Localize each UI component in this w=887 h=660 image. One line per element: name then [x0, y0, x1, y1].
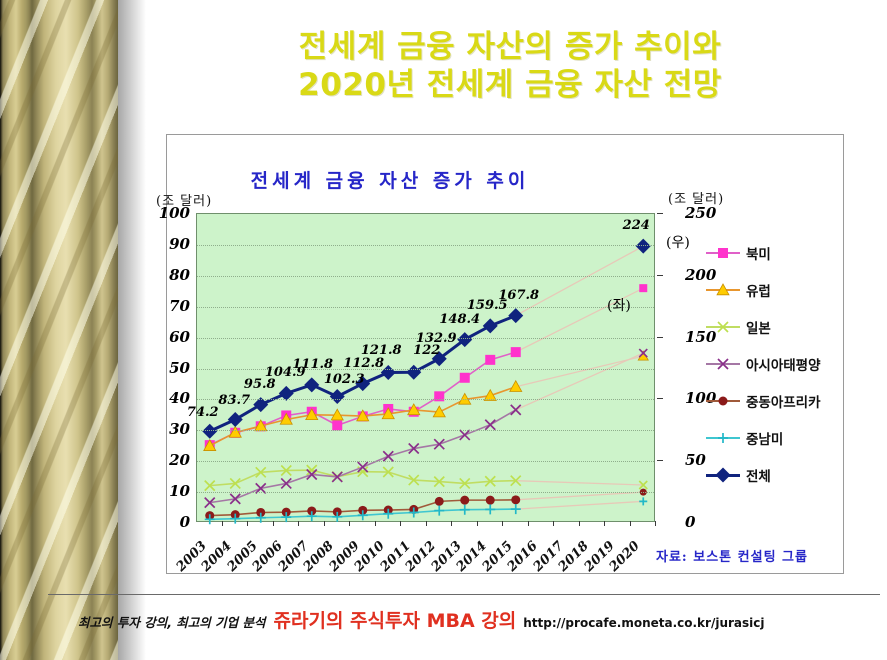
series-projection-line — [516, 481, 644, 485]
data-label: 83.7 — [218, 393, 250, 408]
y-axis-tick-left: 70 — [169, 297, 190, 315]
data-point-marker — [434, 506, 444, 516]
x-axis-tickmark — [273, 521, 274, 526]
y-axis-tickmark-right — [657, 275, 663, 276]
data-point-marker — [639, 284, 647, 292]
legend-label: 전체 — [746, 465, 771, 485]
legend-marker-icon — [712, 246, 734, 260]
data-label: 224 — [623, 218, 650, 233]
x-axis: 2003200420052006200720082009201020112012… — [196, 526, 655, 576]
data-point-marker — [483, 318, 498, 333]
data-label: 167.8 — [498, 288, 539, 303]
y-axis-right: 050100150200250 — [663, 213, 709, 522]
series-line — [210, 410, 516, 503]
data-point-marker — [485, 504, 495, 514]
footer-bar: 최고의 투자 강의, 최고의 기업 분석 쥬라기의 주식투자 MBA 강의 ht… — [78, 606, 765, 634]
gridline — [197, 492, 654, 493]
y-axis-tick-left: 100 — [159, 204, 190, 222]
x-axis-tickmark — [655, 521, 656, 526]
data-label: 148.4 — [439, 312, 480, 327]
gridline — [197, 461, 654, 462]
legend-swatch — [706, 247, 740, 259]
legend-swatch — [706, 358, 740, 370]
gridline — [197, 245, 654, 246]
data-point-marker — [508, 308, 523, 323]
x-axis-tickmark — [247, 521, 248, 526]
data-point-marker — [332, 420, 342, 430]
legend-swatch — [706, 321, 740, 333]
legend-swatch — [706, 469, 740, 481]
data-point-marker — [511, 347, 521, 357]
legend-label: 북미 — [746, 243, 771, 263]
data-point-marker — [460, 505, 470, 515]
legend-swatch — [706, 395, 740, 407]
data-label: 74.2 — [187, 405, 219, 420]
data-point-marker — [511, 504, 521, 514]
x-axis-tickmark — [298, 521, 299, 526]
y-axis-tick-left: 80 — [169, 266, 190, 284]
data-point-marker — [485, 355, 495, 365]
y-axis-tick-left: 50 — [169, 359, 190, 377]
y-axis-tick-left: 10 — [169, 482, 190, 500]
data-point-marker — [460, 373, 470, 383]
y-axis-tick-left: 0 — [180, 513, 190, 531]
legend-item-2[interactable]: 일본 — [706, 308, 841, 345]
x-axis-tickmark — [528, 521, 529, 526]
legend-marker-icon — [712, 357, 734, 371]
y-axis-tickmark-right — [657, 460, 663, 461]
legend-swatch — [706, 432, 740, 444]
y-axis-tick-left: 90 — [169, 235, 190, 253]
y-axis-tickmark-right — [657, 337, 663, 338]
page-title-line2: 2020년 전세계 금융 자산 전망 — [150, 66, 870, 104]
data-point-marker — [304, 377, 319, 392]
data-point-marker — [719, 396, 728, 405]
y-axis-tick-right: 0 — [685, 513, 695, 531]
x-axis-tickmark — [553, 521, 554, 526]
gridline — [197, 307, 654, 308]
decorative-gold-column — [0, 0, 118, 660]
data-label: 132.9 — [416, 331, 457, 346]
data-point-marker — [228, 412, 243, 427]
data-point-marker — [718, 359, 728, 369]
x-axis-tickmark — [477, 521, 478, 526]
footer-url[interactable]: http://procafe.moneta.co.kr/jurasicj — [523, 616, 764, 630]
y-axis-tick-right: 50 — [685, 451, 706, 469]
y-axis-tick-left: 30 — [169, 420, 190, 438]
y-axis-left: 0102030405060708090100 — [150, 213, 190, 522]
legend-item-6[interactable]: 전체 — [706, 456, 841, 493]
x-axis-tickmark — [630, 521, 631, 526]
y-axis-tickmark-right — [657, 213, 663, 214]
data-point-marker — [435, 497, 444, 506]
page-title-line1: 전세계 금융 자산의 증가 추이와 — [150, 28, 870, 66]
data-point-marker — [511, 495, 520, 504]
x-axis-tickmark — [349, 521, 350, 526]
y-axis-tick-left: 20 — [169, 451, 190, 469]
chart-title: 전세계 금융 자산 증가 추이 — [180, 166, 600, 193]
annotation-left-axis-pointer: (좌) — [607, 295, 631, 315]
footer-brand: 쥬라기의 주식투자 MBA 강의 — [274, 606, 517, 633]
x-axis-tickmark — [579, 521, 580, 526]
data-point-marker — [485, 420, 495, 430]
gold-column-shadow — [118, 0, 146, 660]
data-point-marker — [460, 430, 470, 440]
legend-item-3[interactable]: 아시아태평양 — [706, 345, 841, 382]
data-point-marker — [718, 433, 728, 443]
legend-item-5[interactable]: 중남미 — [706, 419, 841, 456]
data-point-marker — [460, 496, 469, 505]
legend-label: 아시아태평양 — [746, 354, 821, 374]
data-point-marker — [639, 497, 647, 505]
data-point-marker — [636, 239, 651, 254]
legend-swatch — [706, 284, 740, 296]
x-axis-tickmark — [426, 521, 427, 526]
x-axis-tickmark — [400, 521, 401, 526]
legend-marker-icon — [712, 394, 734, 408]
legend-label: 일본 — [746, 317, 771, 337]
legend-marker-icon — [712, 283, 734, 297]
legend-marker-icon — [712, 468, 734, 482]
page-title: 전세계 금융 자산의 증가 추이와 2020년 전세계 금융 자산 전망 — [150, 28, 870, 104]
data-point-marker — [716, 467, 731, 482]
gridline — [197, 399, 654, 400]
gridline — [197, 276, 654, 277]
data-point-marker — [330, 389, 345, 404]
data-point-marker — [383, 451, 393, 461]
data-label: 111.8 — [292, 357, 333, 372]
x-axis-tickmark — [451, 521, 452, 526]
legend-label: 중동아프리카 — [746, 391, 821, 411]
footer-divider — [48, 594, 880, 595]
footer-tagline: 최고의 투자 강의, 최고의 기업 분석 — [78, 612, 266, 631]
legend-marker-icon — [712, 320, 734, 334]
x-axis-tickmark — [502, 521, 503, 526]
y-axis-tick-left: 60 — [169, 328, 190, 346]
x-axis-tickmark — [324, 521, 325, 526]
chart-legend: 북미유럽일본아시아태평양중동아프리카중남미전체 — [706, 234, 841, 493]
y-axis-tickmark-right — [657, 398, 663, 399]
source-note: 자료: 보스톤 컨설팅 그룹 — [656, 546, 808, 565]
legend-label: 유럽 — [746, 280, 771, 300]
data-point-marker — [511, 405, 521, 415]
annotation-right-axis-pointer: (우) — [666, 232, 690, 252]
data-point-marker — [486, 496, 495, 505]
data-point-marker — [406, 365, 421, 380]
legend-item-1[interactable]: 유럽 — [706, 271, 841, 308]
legend-label: 중남미 — [746, 428, 783, 448]
legend-marker-icon — [712, 431, 734, 445]
series-projection-line — [516, 501, 644, 509]
x-axis-tickmark — [222, 521, 223, 526]
gridline — [197, 430, 654, 431]
legend-item-4[interactable]: 중동아프리카 — [706, 382, 841, 419]
data-label: 102.3 — [324, 372, 365, 387]
legend-item-0[interactable]: 북미 — [706, 234, 841, 271]
data-label: 121.8 — [361, 343, 402, 358]
data-point-marker — [718, 248, 728, 258]
x-axis-tickmark — [604, 521, 605, 526]
y-axis-tick-right: 250 — [685, 204, 716, 222]
data-point-marker — [717, 284, 729, 295]
data-point-marker — [718, 322, 728, 332]
x-axis-tickmark — [375, 521, 376, 526]
series-projection-line — [516, 492, 644, 500]
